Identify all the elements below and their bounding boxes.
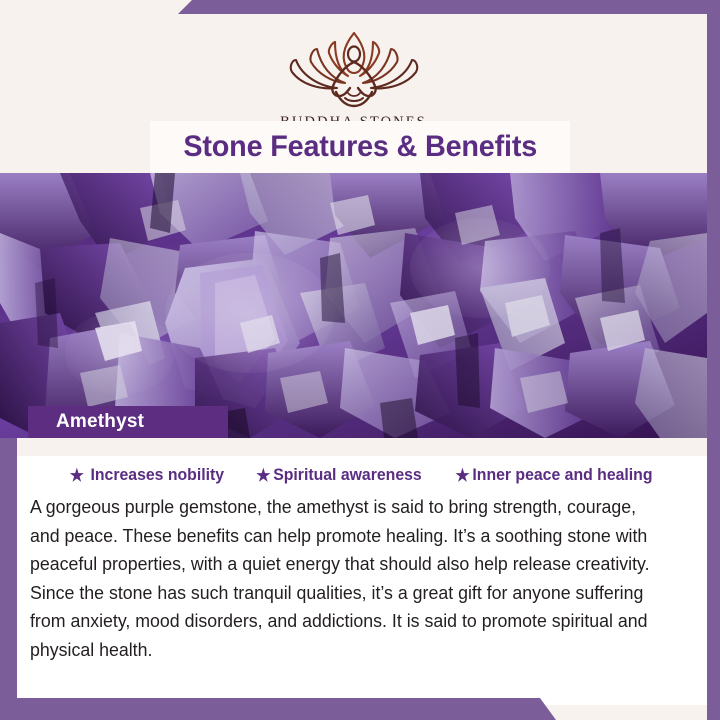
page-title-panel: Stone Features & Benefits (150, 121, 570, 173)
infographic-page: BUDDHA STONES Stone Features & Benefits (0, 0, 720, 720)
lotus-meditation-icon (279, 26, 429, 112)
star-icon: ★ (256, 467, 270, 484)
star-icon: ★ (70, 467, 84, 484)
benefit-label: Inner peace and healing (472, 465, 652, 485)
left-accent-border (0, 438, 17, 720)
stone-info-card: ★ Increases nobility ★ Spiritual awarene… (17, 438, 707, 705)
right-accent-border (707, 12, 720, 720)
benefit-label: Increases nobility (91, 465, 225, 485)
page-title: Stone Features & Benefits (183, 130, 537, 164)
bottom-accent-band (0, 698, 600, 720)
card-top-tint (17, 438, 707, 456)
benefit-item-2: ★ Spiritual awareness (256, 465, 421, 485)
stone-name-badge: Amethyst (28, 406, 228, 438)
amethyst-crystal-photo (0, 173, 707, 438)
stone-description: A gorgeous purple gemstone, the amethyst… (30, 493, 668, 664)
brand-logo: BUDDHA STONES (0, 26, 707, 131)
benefit-item-1: ★ Increases nobility (70, 465, 224, 485)
benefit-item-3: ★ Inner peace and healing (455, 465, 652, 485)
benefits-row: ★ Increases nobility ★ Spiritual awarene… (17, 465, 707, 485)
benefit-label: Spiritual awareness (273, 465, 422, 485)
star-icon: ★ (455, 467, 469, 484)
stone-name: Amethyst (56, 411, 144, 433)
